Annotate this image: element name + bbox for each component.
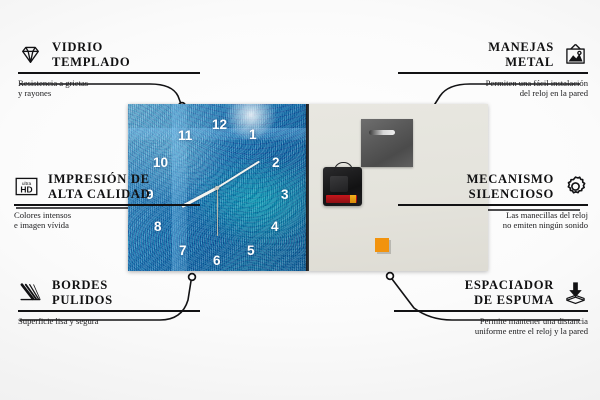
wall-frame-icon	[563, 42, 588, 67]
feature-title: IMPRESIÓN DE ALTA CALIDAD	[48, 172, 150, 201]
dot-foam-spacer	[387, 273, 394, 280]
hanger-loop	[334, 162, 353, 171]
feature-header: BORDES PULIDOS	[18, 278, 200, 307]
polished-edges-icon	[18, 280, 43, 305]
mechanism-dial	[330, 176, 348, 192]
clock-hand-second	[217, 188, 219, 236]
quartz-mechanism-box	[323, 167, 362, 206]
clock-numeral-12: 12	[212, 118, 227, 132]
feature-divider	[14, 204, 200, 205]
feature-description: Permiten una fácil instalación del reloj…	[398, 78, 588, 99]
metal-hanger-plate	[361, 119, 413, 167]
feature-title: VIDRIO TEMPLADO	[52, 40, 130, 69]
feature-title: MECANISMO SILENCIOSO	[467, 172, 554, 201]
feature-header: MANEJAS METAL	[398, 40, 588, 69]
feature-header: ESPACIADOR DE ESPUMA	[394, 278, 588, 307]
feature-title: ESPACIADOR DE ESPUMA	[465, 278, 554, 307]
clock-numeral-11: 11	[178, 129, 192, 143]
feature-header: MECANISMO SILENCIOSO	[398, 172, 588, 201]
clock-numeral-2: 2	[272, 156, 280, 170]
feature-divider	[18, 310, 200, 311]
diamond-icon	[18, 42, 43, 67]
clock-numeral-7: 7	[179, 244, 187, 258]
clock-numeral-1: 1	[249, 128, 257, 142]
feature-divider	[398, 72, 588, 73]
feature-title: BORDES PULIDOS	[52, 278, 113, 307]
feature-header: VIDRIO TEMPLADO	[18, 40, 200, 69]
clock-numeral-5: 5	[247, 244, 255, 258]
clock-center-pin	[215, 186, 219, 190]
feature-polished-edges: BORDES PULIDOS Superficie lisa y segura	[18, 278, 200, 326]
foam-spacer-pad	[375, 238, 389, 252]
infographic-canvas: 12 1 2 3 4 5 6 7 8 9 10 11	[0, 0, 600, 400]
feature-hd-print: ultra HD IMPRESIÓN DE ALTA CALIDAD Color…	[14, 172, 200, 231]
clock-numeral-10: 10	[153, 156, 168, 170]
ultra-hd-icon: ultra HD	[14, 174, 39, 199]
clock-numeral-4: 4	[271, 220, 279, 234]
foam-spacer-icon	[563, 280, 588, 305]
clock-numeral-3: 3	[281, 188, 289, 202]
feature-silent-mechanism: MECANISMO SILENCIOSO Las manecillas del …	[398, 172, 588, 231]
feature-description: Resistencia a grietas y rayones	[18, 78, 200, 99]
panel-seam	[306, 104, 309, 271]
keyhole-slot	[369, 130, 395, 135]
feature-title: MANEJAS METAL	[488, 40, 554, 69]
feature-description: Permite mantener una distancia uniforme …	[394, 316, 588, 337]
ultra-hd-icon-main: HD	[20, 184, 32, 194]
feature-header: ultra HD IMPRESIÓN DE ALTA CALIDAD	[14, 172, 200, 201]
gear-icon	[563, 174, 588, 199]
feature-tempered-glass: VIDRIO TEMPLADO Resistencia a grietas y …	[18, 40, 200, 99]
feature-divider	[18, 72, 200, 73]
feature-description: Colores intensos e imagen vívida	[14, 210, 200, 231]
clock-numeral-6: 6	[213, 254, 221, 268]
feature-metal-handles: MANEJAS METAL Permiten una fácil instala…	[398, 40, 588, 99]
feature-description: Superficie lisa y segura	[18, 316, 200, 327]
feature-foam-spacer: ESPACIADOR DE ESPUMA Permite mantener un…	[394, 278, 588, 337]
battery-label	[326, 195, 357, 203]
feature-description: Las manecillas del reloj no emiten ningú…	[398, 210, 588, 231]
feature-divider	[398, 204, 588, 205]
feature-divider	[394, 310, 588, 311]
